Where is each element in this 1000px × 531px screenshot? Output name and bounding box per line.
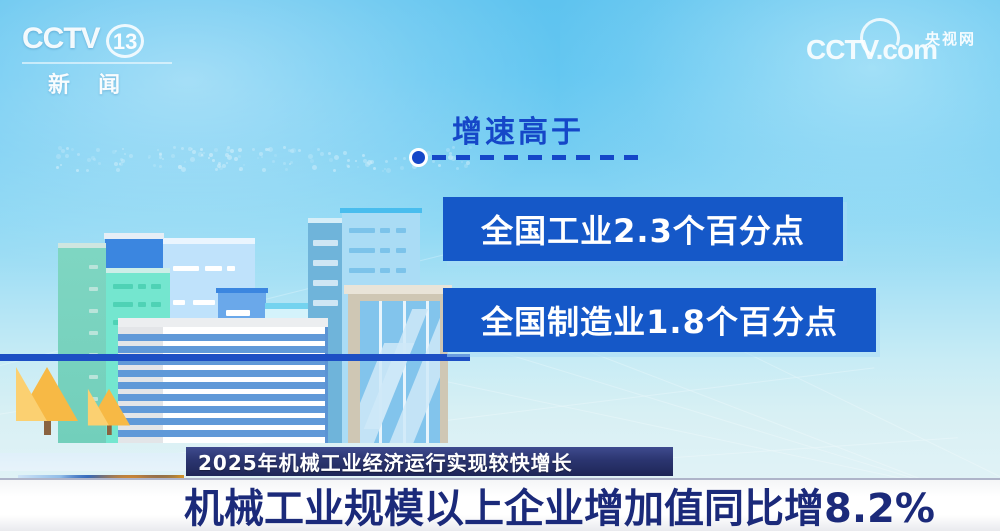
glass-tower-cornice (344, 285, 452, 294)
fact-box-manufacturing: 全国制造业1.8个百分点 (443, 288, 876, 352)
building-roof (106, 268, 170, 273)
building-edge (325, 327, 328, 443)
callout-title: 增速高于 (452, 107, 584, 151)
building-roof (308, 218, 344, 223)
headline-banner-topline (0, 478, 1000, 480)
glass-tower-panes (360, 301, 440, 443)
cctv-13-logo: CCTV 13 新 闻 (22, 22, 202, 84)
lower-third-headline-banner: 机械工业规模以上企业增加值同比增8.2% (0, 478, 1000, 531)
fact-box-manufacturing-label: 全国制造业1.8个百分点 (481, 297, 838, 343)
cctv-com-logo: CCTV.com 央视网 (806, 20, 976, 66)
tree-icon (88, 389, 130, 435)
lower-third-topic-banner: 2025年机械工业经济运行实现较快增长 (186, 447, 673, 476)
fact-box-industry-label: 全国工业2.3个百分点 (481, 206, 805, 252)
building-striped-front (118, 318, 328, 443)
lower-third-topic-text: 2025年机械工业经济运行实现较快增长 (198, 447, 573, 476)
channel-number-badge: 13 (106, 24, 144, 58)
building-roof (104, 233, 164, 239)
cctv-com-wordmark: CCTV.com (806, 34, 937, 66)
building-roof (216, 288, 268, 293)
tree-icon (16, 367, 78, 435)
building-roof (118, 318, 328, 327)
fact-box-industry: 全国工业2.3个百分点 (443, 197, 843, 261)
building-roof (340, 208, 422, 213)
callout-dot-marker-icon (409, 148, 428, 167)
callout-dashed-connector (432, 155, 644, 160)
ground-accent-line (0, 354, 470, 361)
lower-third-headline-text: 机械工业规模以上企业增加值同比增8.2% (184, 476, 935, 531)
cctv-wordmark: CCTV (22, 22, 100, 55)
news-graphic-stage: CCTV 13 新 闻 CCTV.com 央视网 增速高于 全国工业2.3个百分… (0, 0, 1000, 531)
logo-underline (22, 62, 172, 64)
channel-name-label: 新 闻 (48, 67, 202, 99)
cctv-com-chinese-label: 央视网 (925, 28, 976, 49)
building-roof (58, 243, 106, 248)
city-skyline-illustration (0, 133, 470, 443)
building-glass-tower (348, 291, 448, 443)
